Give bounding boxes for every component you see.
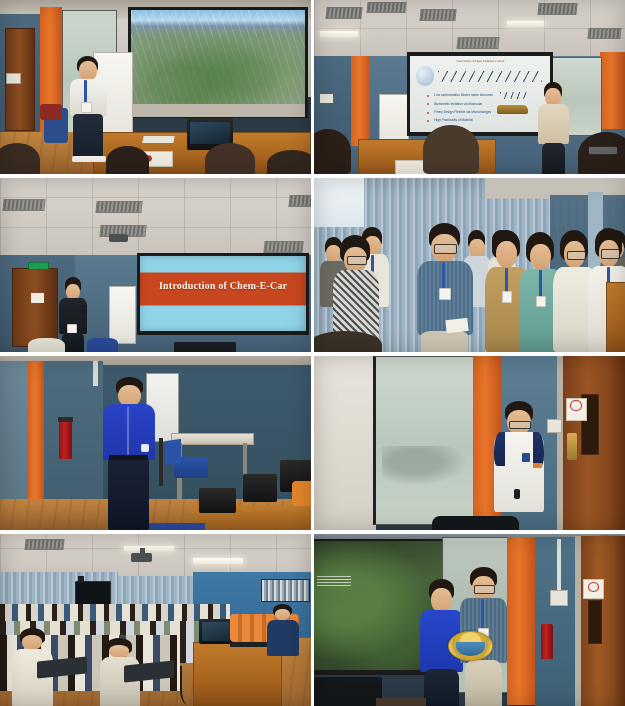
orange-stool: [292, 481, 311, 505]
projected-chemistry-slide: Case Study on Paper Template Carbon Low …: [410, 56, 550, 133]
audience-glasses-right: [588, 146, 618, 155]
ceiling-light-1: [124, 546, 174, 551]
ceiling-vent-1: [326, 7, 364, 19]
foreground-desk: [376, 698, 426, 706]
conduit-pipe: [557, 539, 562, 591]
wall-box: [550, 590, 568, 606]
polo-logo: [522, 453, 530, 462]
screen-lower-blank: [131, 104, 305, 116]
wall-group-photo: [261, 579, 310, 602]
projected-title-slide: Introduction of Chem-E-Car: [140, 256, 306, 331]
attendee-glasses: [601, 249, 620, 258]
polo-navy-shoulder-left: [494, 432, 505, 465]
lectern-keyboard: [230, 642, 270, 647]
flipchart: [379, 94, 409, 145]
presenter-glasses: [474, 585, 496, 594]
speaker-figure: [103, 377, 156, 530]
no-smoking-symbol: [570, 400, 581, 411]
door-vision-panel: [588, 600, 602, 644]
shirt-placket: [127, 407, 129, 456]
projected-aerial-image: [131, 10, 305, 104]
flipchart: [109, 286, 136, 344]
foreground-chair: [432, 516, 519, 530]
wall-switch: [320, 94, 332, 103]
wall-switch: [6, 73, 20, 84]
foreground-head-mid: [106, 146, 150, 174]
collage-photo-4: [314, 178, 625, 352]
presenter-trousers: [542, 143, 564, 174]
extinguisher-bracket: [58, 417, 74, 422]
fire-extinguisher: [59, 420, 71, 458]
glass-reflection: [382, 446, 466, 484]
attendee-lanyard: [539, 270, 542, 296]
table: [171, 433, 254, 445]
foreground-head-far-right: [267, 150, 311, 174]
collage-photo-2: Case Study on Paper Template Carbon Low …: [314, 0, 625, 174]
left-wall: [314, 356, 376, 530]
shirt-cuff: [141, 444, 149, 452]
ceiling-vent-6: [456, 37, 500, 49]
ceiling-vent-5: [587, 28, 621, 39]
attendee-front-2: [417, 223, 473, 352]
slide-title-text: Introduction of Chem-E-Car: [140, 281, 306, 292]
ceiling-vent-3: [419, 9, 457, 21]
attendee-badge: [536, 296, 546, 308]
foreground-chair-white: [28, 338, 65, 352]
desk-papers: [142, 136, 175, 143]
projector-mount: [140, 548, 145, 555]
slide-bullet-1: Low carbonization Binder made Monomer: [434, 93, 493, 97]
attendee-glasses: [434, 244, 457, 254]
presenter-glasses: [509, 421, 531, 429]
bullet-marker-3: [427, 112, 429, 114]
orange-pillar-right: [600, 52, 625, 129]
slide-bullet-3: Finely Design Flexible via Microchanges: [434, 110, 491, 114]
chair-back: [40, 104, 62, 120]
slide-bullet-2: Biomimetic Imitation via Molecular: [434, 102, 482, 106]
ceiling-light-1: [320, 31, 357, 36]
door-notice: [31, 293, 43, 303]
ceiling-vent-4: [289, 195, 311, 207]
attendee-trousers: [421, 331, 468, 352]
polo-navy-shoulder-right: [533, 432, 544, 465]
monitor-1: [199, 488, 236, 512]
ceiling-projector: [109, 234, 128, 243]
belt: [109, 455, 148, 460]
presenter-figure: [538, 82, 569, 174]
orange-pillar: [507, 537, 535, 704]
ceiling-light-2: [193, 558, 243, 563]
presenter-trousers: [465, 660, 502, 706]
orange-pillar: [28, 361, 44, 511]
orange-pillar: [351, 56, 370, 146]
bullet-marker-2: [427, 103, 429, 105]
slide-bullet-4: High Practicality of Material: [434, 118, 473, 122]
presenter-sweater: [538, 104, 569, 145]
presenter-lanyard: [481, 599, 484, 630]
presenter-figure: [68, 56, 108, 160]
attendee-glasses: [567, 251, 586, 260]
handout-paper: [445, 317, 469, 332]
frosted-glass-partition: [373, 356, 481, 525]
slide-title-text: Case Study on Paper Template Carbon: [419, 59, 542, 63]
bullet-marker-4: [427, 120, 429, 122]
desk-monitor-screen: [190, 122, 230, 145]
wall-box: [547, 419, 561, 433]
presenter-lanyard: [84, 80, 87, 103]
blue-chair-back: [165, 438, 181, 465]
slide-formula: [500, 92, 528, 98]
bullet-marker-1: [427, 95, 429, 97]
presenter-badge: [81, 102, 92, 113]
foreground-desk: [174, 342, 236, 352]
collage-photo-7: [0, 534, 311, 706]
slide-caption-text: [317, 576, 351, 586]
plate-artwork: [456, 642, 486, 656]
slide-car-illustration: [497, 105, 528, 114]
presenter-shoes: [72, 156, 106, 162]
attendee-seated-right: [267, 604, 298, 656]
door-wood: [12, 268, 58, 347]
presenter-figure: [494, 401, 544, 530]
foreground-chair-blue: [87, 338, 118, 352]
attendee-lanyard: [505, 268, 508, 292]
exit-sign: [28, 262, 49, 271]
photo-collage: Case Study on Paper Template Carbon Low …: [0, 0, 625, 706]
ceiling-vent-2: [96, 201, 143, 213]
collage-photo-5: [0, 356, 311, 530]
speaker-trousers: [62, 333, 83, 352]
collage-photo-1: [0, 0, 311, 174]
desk-folder: [149, 523, 205, 530]
fire-extinguisher: [541, 624, 553, 659]
attendee-lanyard: [442, 262, 445, 290]
ceiling-vent-1: [2, 199, 46, 211]
foreground-head-right: [205, 143, 255, 174]
ceiling-vent-2: [366, 2, 406, 13]
collage-photo-6: [314, 356, 625, 530]
attendee-glasses: [347, 256, 368, 265]
ceiling-vent: [24, 539, 64, 550]
collage-photo-8: [314, 534, 625, 706]
monitor-2: [243, 474, 277, 502]
ceiling-vent-5: [264, 241, 305, 253]
attendee-badge: [502, 291, 513, 303]
no-smoking-symbol: [588, 582, 599, 592]
ceiling-light-2: [507, 21, 544, 26]
speaker-trousers: [108, 456, 149, 529]
molecule-chain: [438, 71, 542, 82]
molecule-sphere: [416, 66, 434, 86]
window-light: [314, 178, 364, 227]
recipient-trousers: [424, 669, 459, 706]
attendee-badge: [439, 288, 451, 300]
side-lectern: [606, 282, 625, 352]
collage-photo-3: Introduction of Chem-E-Car: [0, 178, 311, 352]
tv-bracket: [78, 576, 84, 583]
microphone: [81, 305, 87, 315]
cable: [180, 666, 201, 704]
whiteboard-stand: [159, 438, 164, 487]
conduit-pipe: [93, 361, 98, 385]
door-handle: [567, 433, 576, 461]
foreground-monitor: [314, 677, 382, 706]
audience-head-center: [423, 125, 479, 174]
polo-orange-trim: [533, 463, 542, 468]
presenter-trousers: [73, 114, 103, 158]
ceiling-vent-4: [537, 3, 578, 15]
clicker-remote: [514, 489, 520, 499]
